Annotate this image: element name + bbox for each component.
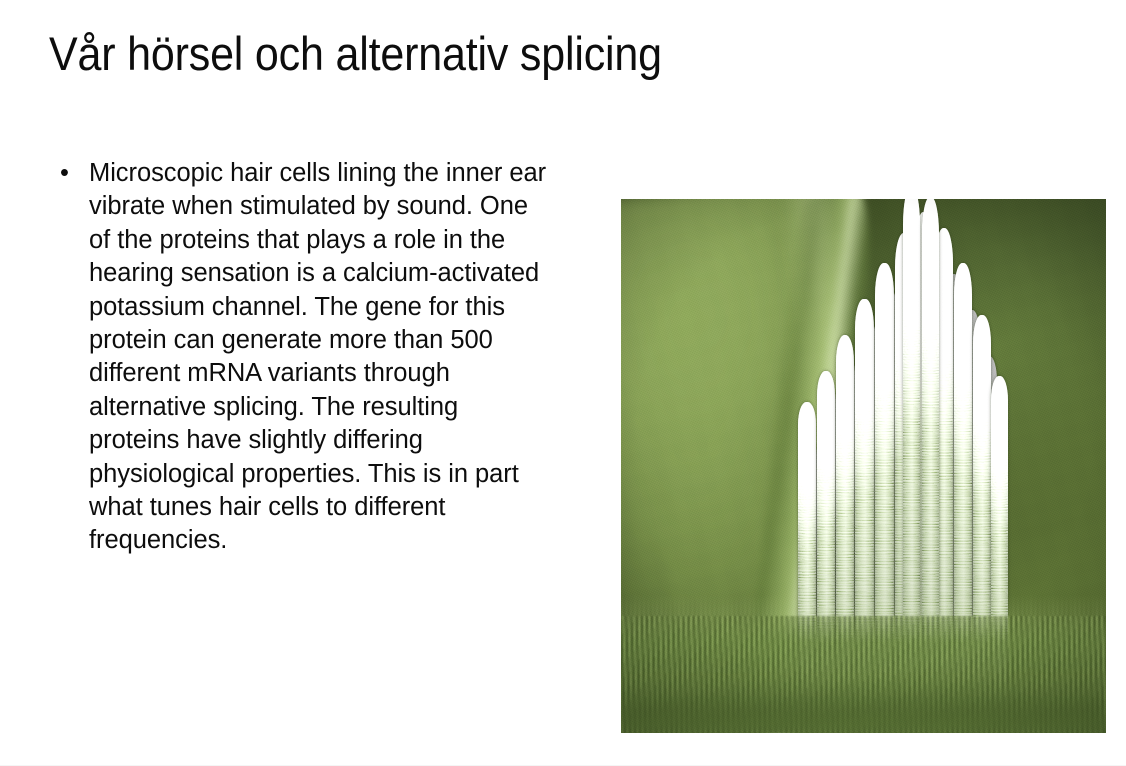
hair-cell-stereocilia-micrograph: [621, 199, 1106, 733]
slide: Vår hörsel och alternativ splicing • Mic…: [0, 0, 1126, 766]
micrograph-vignette: [621, 199, 1106, 733]
list-item: • Microscopic hair cells lining the inne…: [55, 157, 555, 558]
body-placeholder: • Microscopic hair cells lining the inne…: [55, 157, 555, 558]
bullet-text: Microscopic hair cells lining the inner …: [89, 157, 555, 558]
bullet-marker-icon: •: [60, 157, 69, 190]
page-title: Vår hörsel och alternativ splicing: [49, 26, 991, 82]
